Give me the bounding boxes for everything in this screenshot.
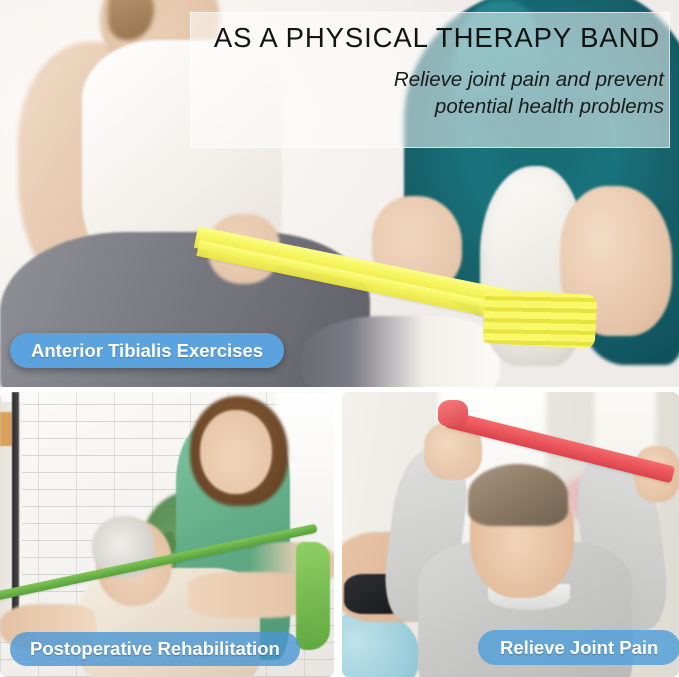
patient-knee — [300, 316, 500, 387]
man-hair — [468, 464, 568, 526]
hero-panel: AS A PHYSICAL THERAPY BAND Relieve joint… — [0, 0, 679, 387]
badge-postoperative-rehabilitation: Postoperative Rehabilitation — [10, 632, 300, 666]
hero-subtitle-line2: potential health problems — [206, 93, 664, 120]
product-infographic: AS A PHYSICAL THERAPY BAND Relieve joint… — [0, 0, 679, 677]
badge-relieve-joint-pain: Relieve Joint Pain — [478, 630, 679, 665]
badge-anterior-tibialis-exercises: Anterior Tibialis Exercises — [10, 333, 284, 368]
therapist-head — [200, 410, 272, 494]
green-band-tail — [296, 542, 330, 650]
shelf-item — [0, 412, 12, 446]
band-foot-wrap — [483, 289, 598, 349]
hero-subtitle: Relieve joint pain and prevent potential… — [206, 66, 664, 121]
shelf-frame — [12, 392, 19, 642]
hero-subtitle-line1: Relieve joint pain and prevent — [206, 66, 664, 93]
page-title: AS A PHYSICAL THERAPY BAND — [206, 22, 668, 54]
red-band-grip — [438, 400, 468, 426]
